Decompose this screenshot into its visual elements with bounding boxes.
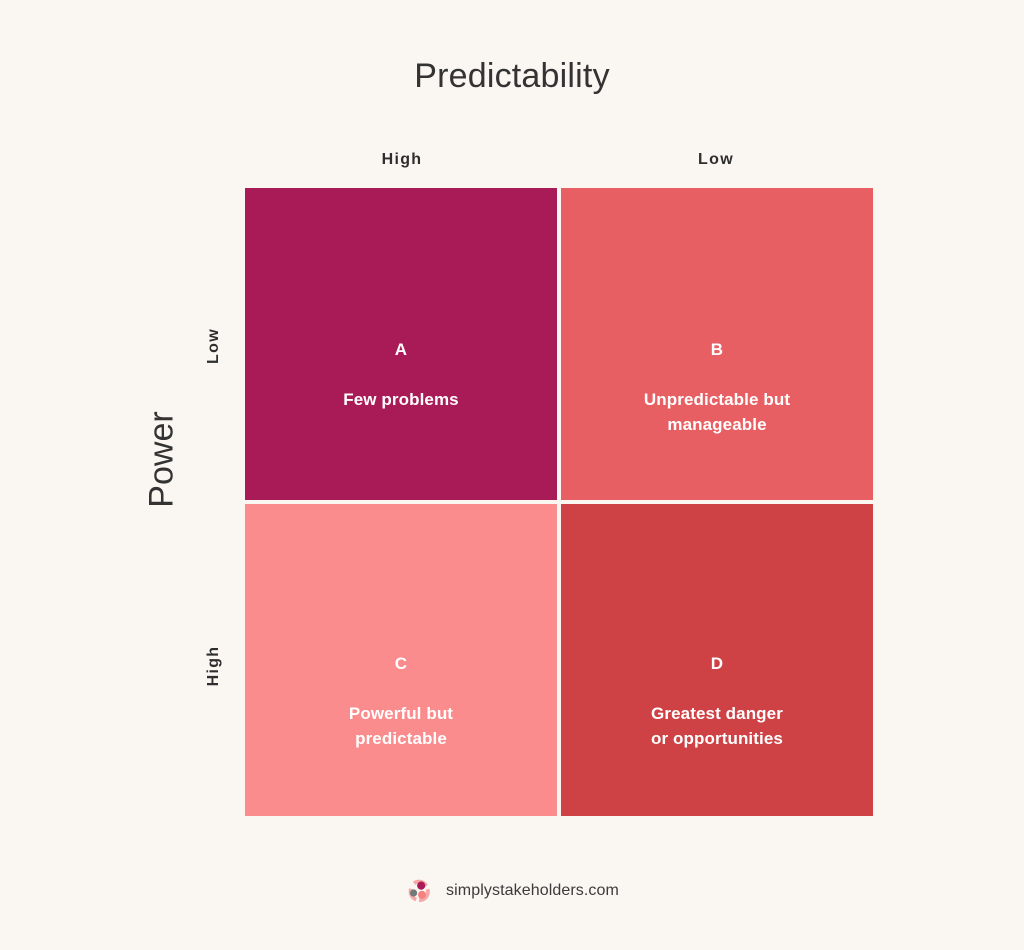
quadrant-d-text: D Greatest danger or opportunities [639,627,795,751]
quadrant-b-text: B Unpredictable but manageable [632,313,802,437]
quadrant-a-text: A Few problems [331,313,471,413]
brand-name: simplystakeholders.com [446,882,619,900]
quadrant-c-label: Powerful but predictable [349,704,453,748]
quadrant-a-label: Few problems [343,390,459,409]
quadrant-d[interactable]: D Greatest danger or opportunities [561,504,873,816]
y-axis-tick-high: High [205,631,223,701]
quadrant-d-label: Greatest danger or opportunities [651,704,783,748]
simply-stakeholders-logo-icon [405,876,435,906]
quadrant-c-text: C Powerful but predictable [337,627,465,751]
y-axis-title: Power [143,395,182,525]
x-axis-tick-low: Low [559,151,873,169]
footer-brand: simplystakeholders.com [0,876,1024,906]
quadrant-c-letter: C [349,652,453,677]
quadrant-matrix: A Few problems B Unpredictable but manag… [245,188,873,816]
quadrant-c[interactable]: C Powerful but predictable [245,504,557,816]
quadrant-b[interactable]: B Unpredictable but manageable [561,188,873,500]
quadrant-d-letter: D [651,652,783,677]
y-axis-tick-low: Low [205,311,223,381]
quadrant-b-label: Unpredictable but manageable [644,390,790,434]
page-title: Predictability [0,58,1024,95]
quadrant-a[interactable]: A Few problems [245,188,557,500]
quadrant-b-letter: B [644,338,790,363]
matrix-infographic: Predictability High Low Power Low High A… [0,0,1024,950]
quadrant-a-letter: A [343,338,459,363]
x-axis-tick-high: High [245,151,559,169]
